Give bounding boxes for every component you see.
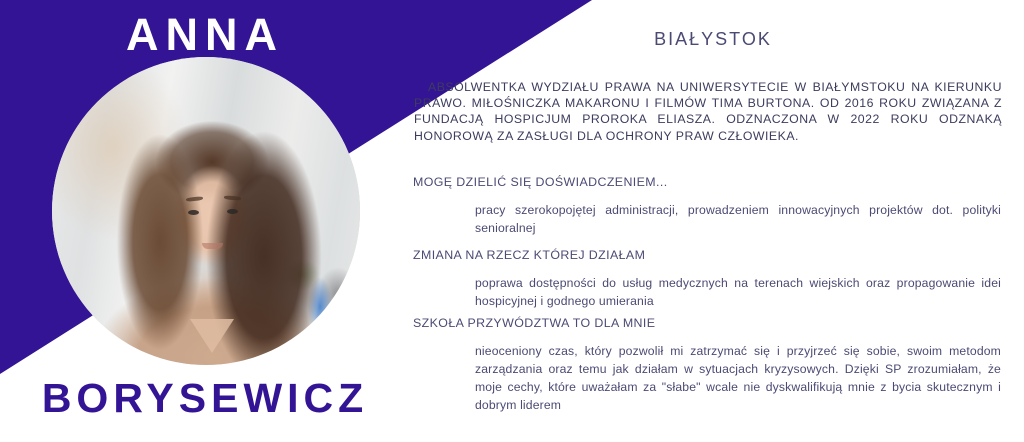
last-name: BORYSEWICZ [0,378,410,419]
section-experience-body: pracy szerokopojętej administracji, prow… [475,201,1001,237]
section-change-title: ZMIANA NA RZECZ KTÓREJ DZIAŁAM [413,248,1001,263]
brow-left-icon [186,196,203,202]
vneck-shape [190,319,234,353]
bio-paragraph: ABSOLWENTKA WYDZIAŁU PRAWA NA UNIWERSYTE… [414,79,1002,144]
city-title: BIAŁYSTOK [413,30,1013,48]
eye-right-icon [227,209,238,214]
section-experience: MOGĘ DZIELIĆ SIĘ DOŚWIADCZENIEM... pracy… [413,175,1001,237]
section-change-body: poprawa dostępności do usług medycznych … [475,274,1001,310]
avatar [52,57,360,365]
section-change: ZMIANA NA RZECZ KTÓREJ DZIAŁAM poprawa d… [413,248,1001,310]
section-leadership-school: SZKOŁA PRZYWÓDZTWA TO DLA MNIE nieocenio… [413,316,1001,414]
eye-left-icon [188,210,199,215]
section-leadership-school-title: SZKOŁA PRZYWÓDZTWA TO DLA MNIE [413,316,1001,331]
portrait-photo [52,57,360,365]
mouth-icon [202,243,223,249]
brow-right-icon [224,195,241,200]
first-name: ANNA [0,12,410,57]
profile-card: ANNA BORYSEWICZ BIAŁYSTOK ABSOLWENTKA WY… [0,0,1024,442]
section-leadership-school-body: nieoceniony czas, który pozwolił mi zatr… [475,342,1001,414]
content-column: BIAŁYSTOK ABSOLWENTKA WYDZIAŁU PRAWA NA … [413,0,1013,442]
section-experience-title: MOGĘ DZIELIĆ SIĘ DOŚWIADCZENIEM... [413,175,1001,190]
